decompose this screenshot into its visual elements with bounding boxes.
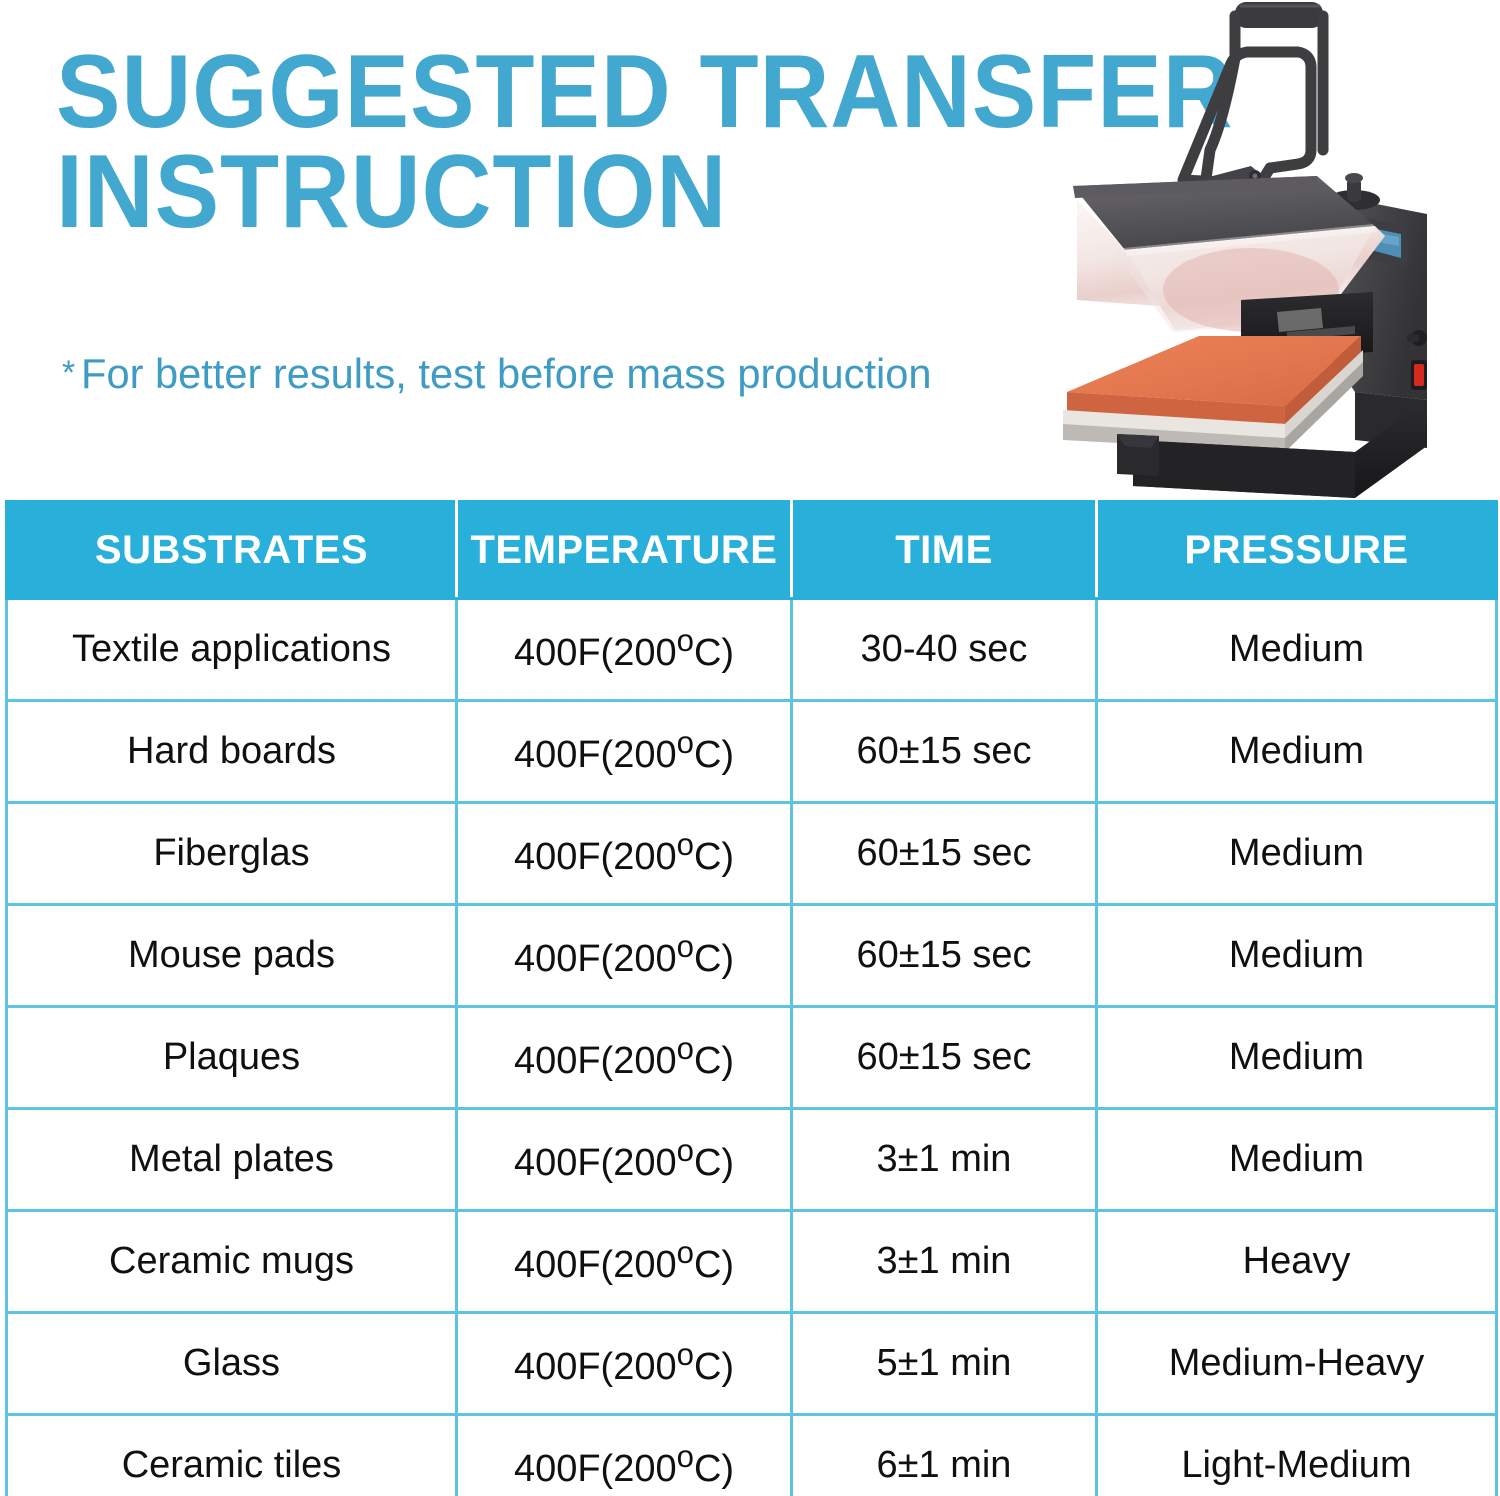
cell-pressure: Heavy xyxy=(1097,1211,1497,1313)
cell-pressure: Medium-Heavy xyxy=(1097,1313,1497,1415)
cell-time: 30-40 sec xyxy=(792,599,1097,701)
temperature-suffix: C) xyxy=(694,837,734,879)
cell-pressure: Medium xyxy=(1097,599,1497,701)
cell-temperature: 400F(200oC) xyxy=(457,701,792,803)
cell-time: 60±15 sec xyxy=(792,905,1097,1007)
cell-substrate: Glass xyxy=(7,1313,457,1415)
temperature-suffix: C) xyxy=(694,1143,734,1185)
table-row: Fiberglas400F(200oC)60±15 secMedium xyxy=(7,803,1497,905)
cell-temperature: 400F(200oC) xyxy=(457,1109,792,1211)
column-header-temperature: TEMPERATURE xyxy=(457,502,792,599)
cell-time: 60±15 sec xyxy=(792,701,1097,803)
temperature-suffix: C) xyxy=(694,1245,734,1287)
column-header-pressure: PRESSURE xyxy=(1097,502,1497,599)
temperature-value: 400F(200 xyxy=(514,1449,677,1491)
cell-temperature: 400F(200oC) xyxy=(457,803,792,905)
table-row: Ceramic tiles400F(200oC)6±1 minLight-Med… xyxy=(7,1415,1497,1496)
heat-press-product-image xyxy=(1055,0,1500,500)
cell-substrate: Plaques xyxy=(7,1007,457,1109)
cell-pressure: Medium xyxy=(1097,701,1497,803)
cell-time: 60±15 sec xyxy=(792,1007,1097,1109)
cell-temperature: 400F(200oC) xyxy=(457,599,792,701)
cell-substrate: Mouse pads xyxy=(7,905,457,1007)
cell-pressure: Medium xyxy=(1097,1109,1497,1211)
degree-icon: o xyxy=(677,1337,694,1372)
swing-handle-icon xyxy=(1183,2,1323,196)
temperature-suffix: C) xyxy=(694,1449,734,1491)
subtitle-note: *For better results, test before mass pr… xyxy=(62,350,932,398)
table-body: Textile applications400F(200oC)30-40 sec… xyxy=(7,599,1497,1496)
degree-icon: o xyxy=(677,1133,694,1168)
degree-icon: o xyxy=(677,1031,694,1066)
subtitle-text: For better results, test before mass pro… xyxy=(81,350,931,397)
degree-icon: o xyxy=(677,1235,694,1270)
temperature-suffix: C) xyxy=(694,735,734,777)
column-header-substrates: SUBSTRATES xyxy=(7,502,457,599)
degree-icon: o xyxy=(677,623,694,658)
temperature-value: 400F(200 xyxy=(514,633,677,675)
degree-icon: o xyxy=(677,1439,694,1474)
table-row: Glass400F(200oC)5±1 minMedium-Heavy xyxy=(7,1313,1497,1415)
table-row: Plaques400F(200oC)60±15 secMedium xyxy=(7,1007,1497,1109)
temperature-suffix: C) xyxy=(694,1041,734,1083)
temperature-value: 400F(200 xyxy=(514,1245,677,1287)
table-header-row: SUBSTRATES TEMPERATURE TIME PRESSURE xyxy=(7,502,1497,599)
heading-block: SUGGESTED TRANSFER INSTRUCTION xyxy=(56,42,1056,242)
cell-temperature: 400F(200oC) xyxy=(457,1313,792,1415)
degree-icon: o xyxy=(677,827,694,862)
page-title-line-2: INSTRUCTION xyxy=(56,142,986,242)
cell-substrate: Textile applications xyxy=(7,599,457,701)
cell-time: 3±1 min xyxy=(792,1211,1097,1313)
cell-time: 6±1 min xyxy=(792,1415,1097,1496)
cell-substrate: Fiberglas xyxy=(7,803,457,905)
temperature-value: 400F(200 xyxy=(514,735,677,777)
temperature-value: 400F(200 xyxy=(514,837,677,879)
table-row: Textile applications400F(200oC)30-40 sec… xyxy=(7,599,1497,701)
cell-time: 5±1 min xyxy=(792,1313,1097,1415)
table-row: Mouse pads400F(200oC)60±15 secMedium xyxy=(7,905,1497,1007)
cell-pressure: Medium xyxy=(1097,1007,1497,1109)
temperature-suffix: C) xyxy=(694,633,734,675)
table-row: Hard boards400F(200oC)60±15 secMedium xyxy=(7,701,1497,803)
cell-substrate: Hard boards xyxy=(7,701,457,803)
cell-pressure: Medium xyxy=(1097,905,1497,1007)
column-header-time: TIME xyxy=(792,502,1097,599)
temperature-suffix: C) xyxy=(694,1347,734,1389)
cell-temperature: 400F(200oC) xyxy=(457,905,792,1007)
degree-icon: o xyxy=(677,929,694,964)
temperature-value: 400F(200 xyxy=(514,1143,677,1185)
temperature-suffix: C) xyxy=(694,939,734,981)
degree-icon: o xyxy=(677,725,694,760)
cell-pressure: Light-Medium xyxy=(1097,1415,1497,1496)
table-row: Ceramic mugs400F(200oC)3±1 minHeavy xyxy=(7,1211,1497,1313)
cell-substrate: Ceramic mugs xyxy=(7,1211,457,1313)
cell-substrate: Ceramic tiles xyxy=(7,1415,457,1496)
transfer-spec-table: SUBSTRATES TEMPERATURE TIME PRESSURE Tex… xyxy=(5,500,1498,1496)
cell-time: 60±15 sec xyxy=(792,803,1097,905)
cell-pressure: Medium xyxy=(1097,803,1497,905)
cell-time: 3±1 min xyxy=(792,1109,1097,1211)
temperature-value: 400F(200 xyxy=(514,1041,677,1083)
cell-substrate: Metal plates xyxy=(7,1109,457,1211)
cell-temperature: 400F(200oC) xyxy=(457,1211,792,1313)
asterisk-icon: * xyxy=(62,354,75,392)
temperature-value: 400F(200 xyxy=(514,1347,677,1389)
temperature-value: 400F(200 xyxy=(514,939,677,981)
cell-temperature: 400F(200oC) xyxy=(457,1007,792,1109)
power-switch-icon xyxy=(1411,360,1427,390)
cell-temperature: 400F(200oC) xyxy=(457,1415,792,1496)
transfer-instruction-poster: SUGGESTED TRANSFER INSTRUCTION *For bett… xyxy=(0,0,1500,1496)
page-title-line-1: SUGGESTED TRANSFER xyxy=(56,42,986,142)
table-row: Metal plates400F(200oC)3±1 minMedium xyxy=(7,1109,1497,1211)
